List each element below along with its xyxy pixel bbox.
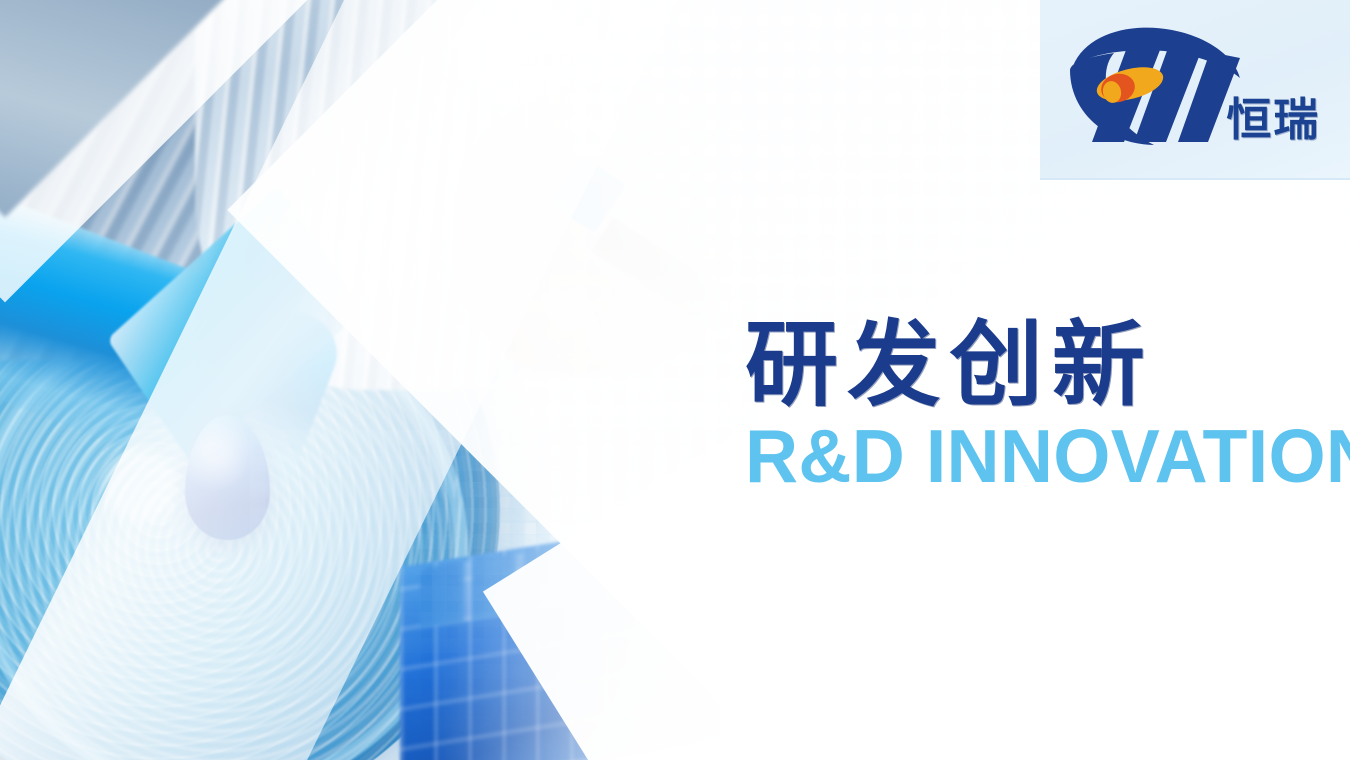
logo-box-underline — [1040, 178, 1350, 180]
headline-block: 研发创新 R&D INNOVATION — [745, 318, 1345, 494]
hengrui-swoosh-icon — [1068, 26, 1243, 146]
logo-inner: 恒瑞 — [1066, 20, 1328, 148]
headline-chinese: 研发创新 — [745, 318, 1345, 413]
company-logo-box[interactable]: 恒瑞 — [1040, 0, 1350, 178]
logo-company-name: 恒瑞 — [1226, 97, 1320, 142]
headline-english: R&D INNOVATION — [745, 419, 1333, 494]
rd-innovation-banner: 研发创新 R&D INNOVATION 恒瑞 — [0, 0, 1350, 760]
